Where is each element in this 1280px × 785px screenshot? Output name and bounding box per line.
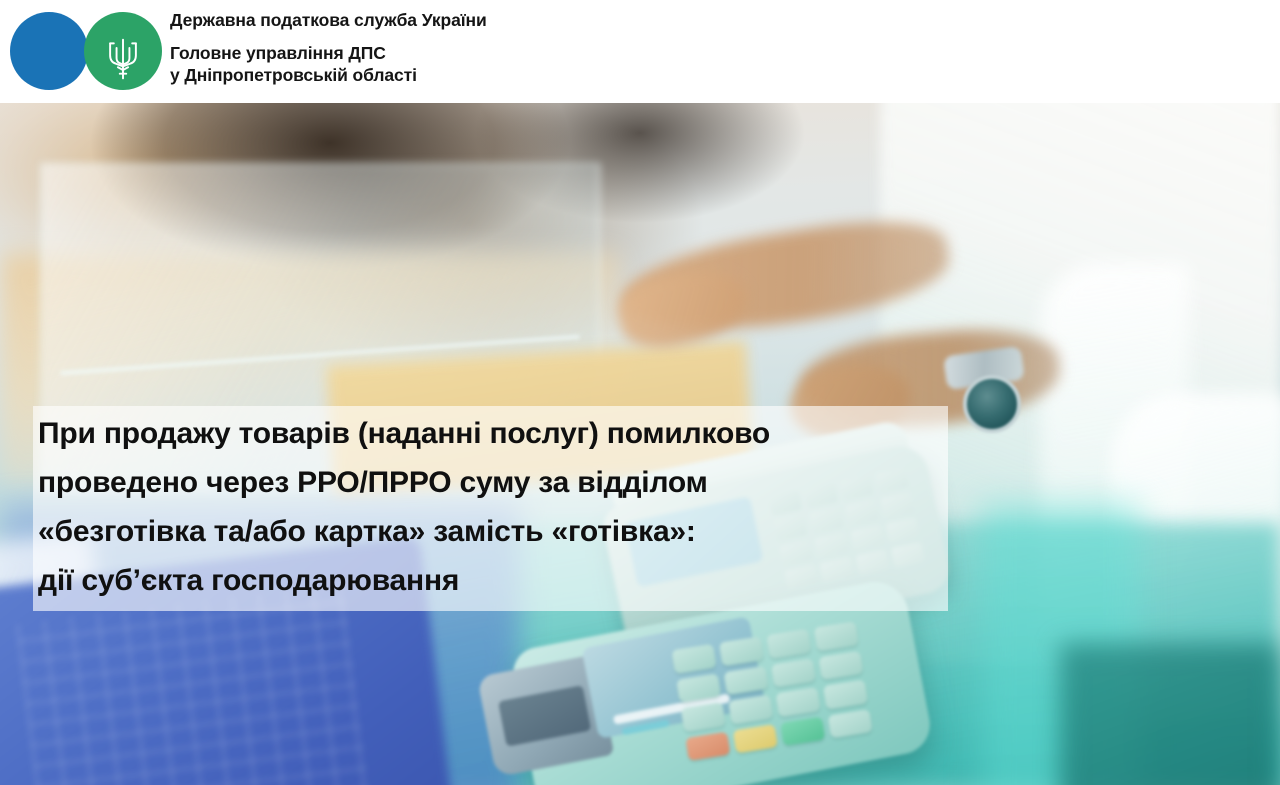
- header-text-block: Державна податкова служба України Головн…: [170, 10, 790, 87]
- wristwatch-face: [963, 375, 1021, 433]
- logo-group: [10, 12, 162, 90]
- tax-service-banner: Державна податкова служба України Головн…: [0, 0, 1280, 785]
- department-name: Головне управління ДПС у Дніпропетровськ…: [170, 42, 790, 88]
- logo-blue-circle: [10, 12, 88, 90]
- banner-headline: При продажу товарів (наданні послуг) пом…: [38, 409, 958, 605]
- background-photo: При продажу товарів (наданні послуг) пом…: [0, 103, 1280, 785]
- teal-shadow: [1060, 643, 1280, 785]
- banner-header: Державна податкова служба України Головн…: [0, 0, 1280, 103]
- organization-name: Державна податкова служба України: [170, 10, 790, 32]
- ukraine-trident-icon: [104, 36, 142, 82]
